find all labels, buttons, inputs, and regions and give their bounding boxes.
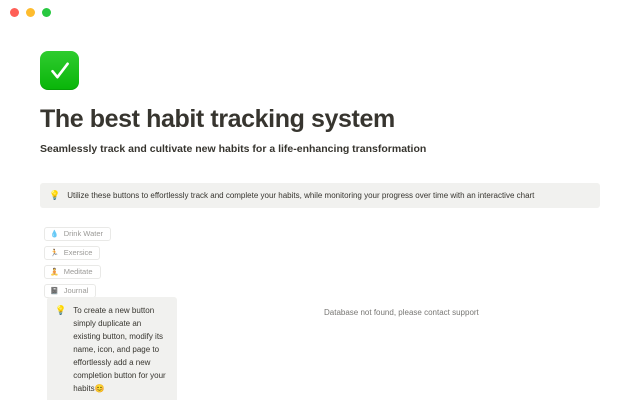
minimize-window-button[interactable] xyxy=(26,8,35,17)
page-title: The best habit tracking system xyxy=(40,104,395,134)
info-callout-text: Utilize these buttons to effortlessly tr… xyxy=(67,189,534,202)
droplet-icon: 💧 xyxy=(50,231,59,238)
habit-button-label: Drink Water xyxy=(64,230,103,238)
habit-button-drink-water[interactable]: 💧 Drink Water xyxy=(44,227,111,241)
database-error-message: Database not found, please contact suppo… xyxy=(324,307,479,319)
page-content: The best habit tracking system Seamlessl… xyxy=(0,24,640,400)
close-window-button[interactable] xyxy=(10,8,19,17)
notebook-icon: 📓 xyxy=(50,288,59,295)
light-bulb-icon: 💡 xyxy=(55,304,66,317)
tip-callout: 💡 To create a new button simply duplicat… xyxy=(47,297,177,400)
person-in-lotus-position-icon: 🧘 xyxy=(50,269,59,276)
habit-button-list: 💧 Drink Water 🏃 Exersice 🧘 Meditate 📓 Jo… xyxy=(44,227,111,298)
maximize-window-button[interactable] xyxy=(42,8,51,17)
habit-button-journal[interactable]: 📓 Journal xyxy=(44,284,96,298)
habit-button-label: Journal xyxy=(64,287,89,295)
window-titlebar xyxy=(0,0,640,24)
habit-button-label: Exersice xyxy=(64,249,93,257)
app-window: The best habit tracking system Seamlessl… xyxy=(0,0,640,400)
habit-button-label: Meditate xyxy=(64,268,93,276)
info-callout: 💡 Utilize these buttons to effortlessly … xyxy=(40,183,600,208)
page-subtitle: Seamlessly track and cultivate new habit… xyxy=(40,142,426,157)
light-bulb-icon: 💡 xyxy=(49,189,60,202)
habit-button-meditate[interactable]: 🧘 Meditate xyxy=(44,265,101,279)
habit-button-exersice[interactable]: 🏃 Exersice xyxy=(44,246,100,260)
tip-callout-text: To create a new button simply duplicate … xyxy=(73,304,169,395)
runner-icon: 🏃 xyxy=(50,250,59,257)
white-heavy-check-mark-icon[interactable] xyxy=(40,51,79,90)
